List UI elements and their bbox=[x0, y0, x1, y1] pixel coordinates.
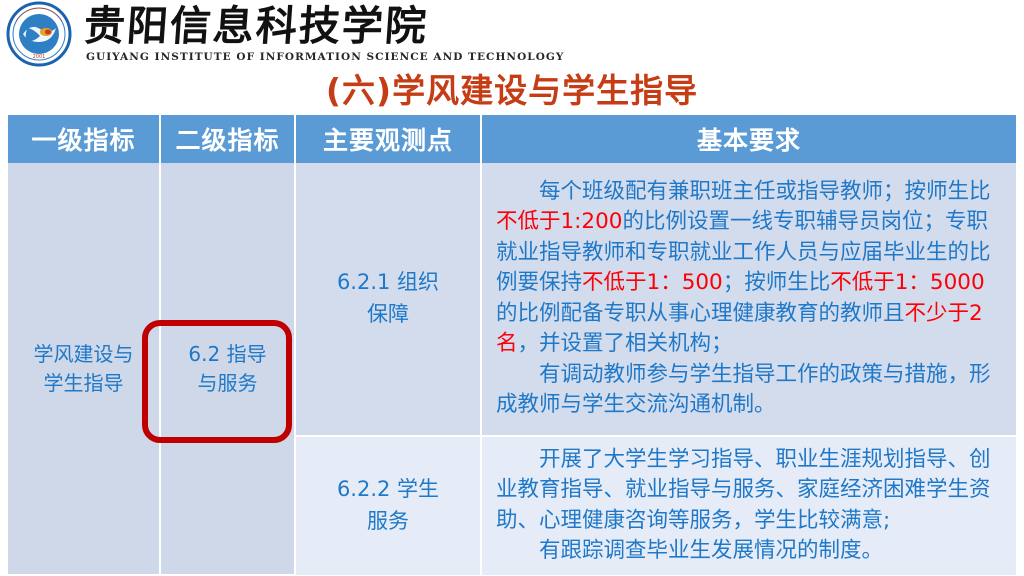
slide-title: (六)学风建设与学生指导 bbox=[0, 64, 1024, 112]
cell-level1-indicator: 学风建设与 学生指导 bbox=[8, 163, 160, 575]
level1-indicator-line1: 学风建设与 bbox=[14, 340, 153, 369]
observation-line2: 保障 bbox=[302, 299, 474, 331]
observation-line1: 6.2.2 学生 bbox=[302, 474, 474, 506]
observation-point-text: 6.2.2 学生 服务 bbox=[302, 474, 474, 537]
cell-observation-point-2: 6.2.2 学生 服务 bbox=[295, 436, 481, 575]
brand-header: 2001 贵阳信息科技学院 GUIYANG INSTITUTE OF INFOR… bbox=[0, 0, 1024, 68]
observation-line1: 6.2.1 组织 bbox=[302, 267, 474, 299]
indicator-table-wrapper: 一级指标 二级指标 主要观测点 基本要求 学风建设与 学生指导 6.2 指导 与… bbox=[8, 115, 1016, 576]
column-header-level1: 一级指标 bbox=[8, 115, 160, 163]
university-crest-logo: 2001 bbox=[6, 1, 72, 67]
level2-indicator-text: 6.2 指导 与服务 bbox=[167, 340, 288, 398]
column-header-level2: 二级指标 bbox=[160, 115, 295, 163]
level1-indicator-text: 学风建设与 学生指导 bbox=[14, 340, 153, 398]
university-name-en: GUIYANG INSTITUTE OF INFORMATION SCIENCE… bbox=[86, 52, 564, 63]
column-header-observation: 主要观测点 bbox=[295, 115, 481, 163]
svg-text:2001: 2001 bbox=[33, 54, 46, 60]
table-row: 学风建设与 学生指导 6.2 指导 与服务 6.2.1 组织 保障 bbox=[8, 163, 1016, 436]
level1-indicator-line2: 学生指导 bbox=[14, 369, 153, 398]
wordmark: 贵阳信息科技学院 GUIYANG INSTITUTE OF INFORMATIO… bbox=[84, 6, 564, 63]
indicator-table: 一级指标 二级指标 主要观测点 基本要求 学风建设与 学生指导 6.2 指导 与… bbox=[8, 115, 1016, 576]
requirement-text: 开展了大学生学习指导、职业生涯规划指导、创业教育指导、就业指导与服务、家庭经济困… bbox=[488, 443, 1010, 569]
observation-line2: 服务 bbox=[302, 506, 474, 538]
cell-observation-point-1: 6.2.1 组织 保障 bbox=[295, 163, 481, 436]
cell-requirement-1: 每个班级配有兼职班主任或指导教师；按师生比不低于1:200的比例设置一线专职辅导… bbox=[481, 163, 1016, 436]
cell-requirement-2: 开展了大学生学习指导、职业生涯规划指导、创业教育指导、就业指导与服务、家庭经济困… bbox=[481, 436, 1016, 575]
level2-indicator-line2: 与服务 bbox=[167, 369, 288, 398]
observation-point-text: 6.2.1 组织 保障 bbox=[302, 267, 474, 330]
university-name-cn: 贵阳信息科技学院 bbox=[83, 6, 566, 47]
requirement-text: 每个班级配有兼职班主任或指导教师；按师生比不低于1:200的比例设置一线专职辅导… bbox=[488, 175, 1010, 423]
column-header-requirement: 基本要求 bbox=[481, 115, 1016, 163]
table-header-row: 一级指标 二级指标 主要观测点 基本要求 bbox=[8, 115, 1016, 163]
level2-indicator-line1: 6.2 指导 bbox=[167, 340, 288, 369]
cell-level2-indicator: 6.2 指导 与服务 bbox=[160, 163, 295, 575]
